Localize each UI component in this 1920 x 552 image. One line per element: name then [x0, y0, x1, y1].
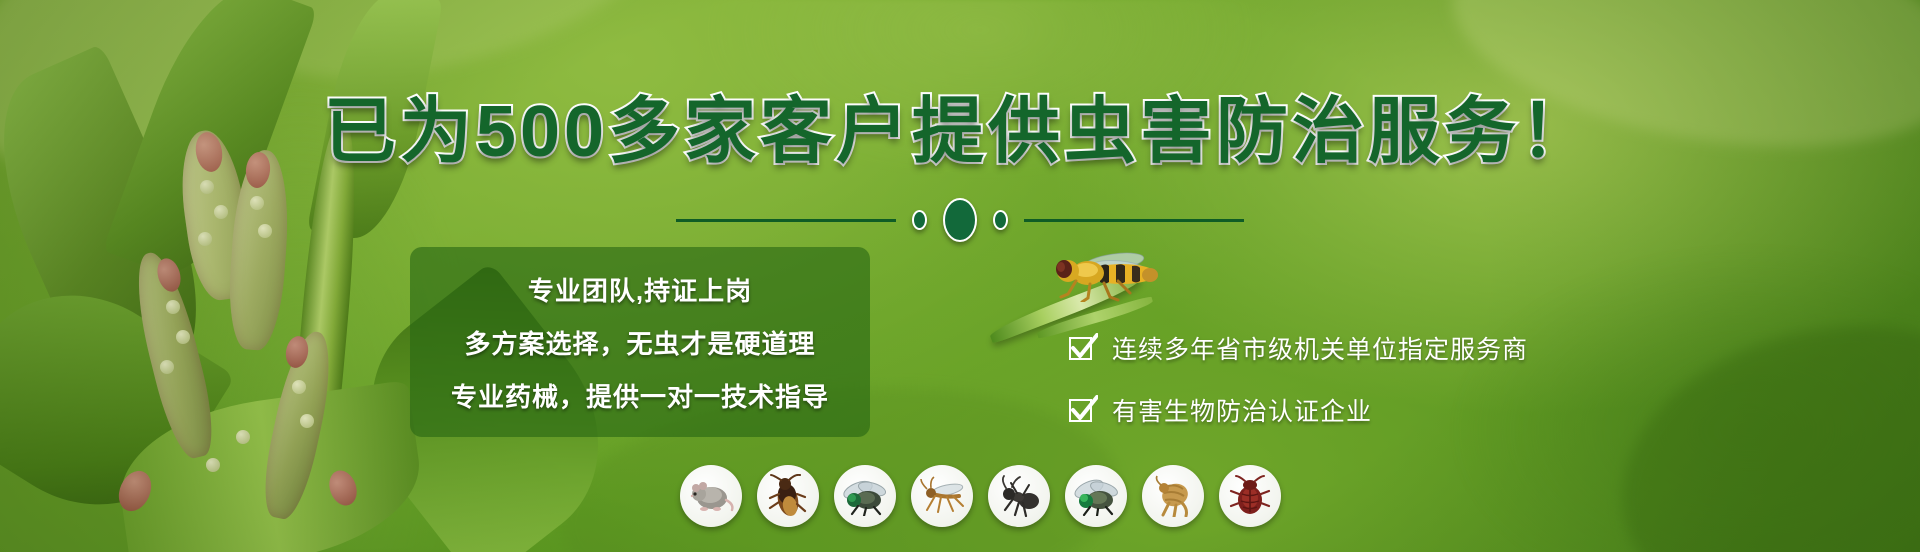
certification-bullet-list: 连续多年省市级机关单位指定服务商 有害生物防治认证企业 [1068, 330, 1528, 428]
mosquito-icon [911, 465, 973, 527]
list-item-label: 连续多年省市级机关单位指定服务商 [1112, 330, 1528, 366]
ant-icon [988, 465, 1050, 527]
pest-type-icon-row [680, 465, 1281, 527]
rodent-icon [680, 465, 742, 527]
divider-line-left [676, 219, 896, 222]
blowfly-icon [1065, 465, 1127, 527]
divider-line-right [1024, 219, 1244, 222]
banner-headline: 已为500多家客户提供虫害防治服务！ [0, 72, 1920, 177]
feature-line-3: 专业药械，提供一对一技术指导 [451, 377, 829, 414]
decorative-divider [0, 198, 1920, 242]
divider-dot-small [993, 210, 1008, 230]
list-item: 有害生物防治认证企业 [1068, 392, 1528, 428]
cockroach-icon [757, 465, 819, 527]
features-panel: 专业团队,持证上岗 多方案选择，无虫才是硬道理 专业药械，提供一对一技术指导 [410, 247, 870, 437]
checkbox-check-icon [1068, 395, 1098, 425]
feature-line-1: 专业团队,持证上岗 [528, 271, 752, 308]
flea-icon [1142, 465, 1204, 527]
pest-control-promo-banner: 已为500多家客户提供虫害防治服务！ 专业团队,持证上岗 多方案选择，无虫才是硬… [0, 0, 1920, 552]
list-item-label: 有害生物防治认证企业 [1112, 392, 1372, 428]
list-item: 连续多年省市级机关单位指定服务商 [1068, 330, 1528, 366]
bedbug-icon [1219, 465, 1281, 527]
feature-line-2: 多方案选择，无虫才是硬道理 [464, 324, 815, 361]
housefly-icon [834, 465, 896, 527]
hoverfly-icon [1050, 248, 1166, 302]
checkbox-check-icon [1068, 333, 1098, 363]
divider-dot-large [943, 198, 977, 242]
divider-dot-small [912, 210, 927, 230]
